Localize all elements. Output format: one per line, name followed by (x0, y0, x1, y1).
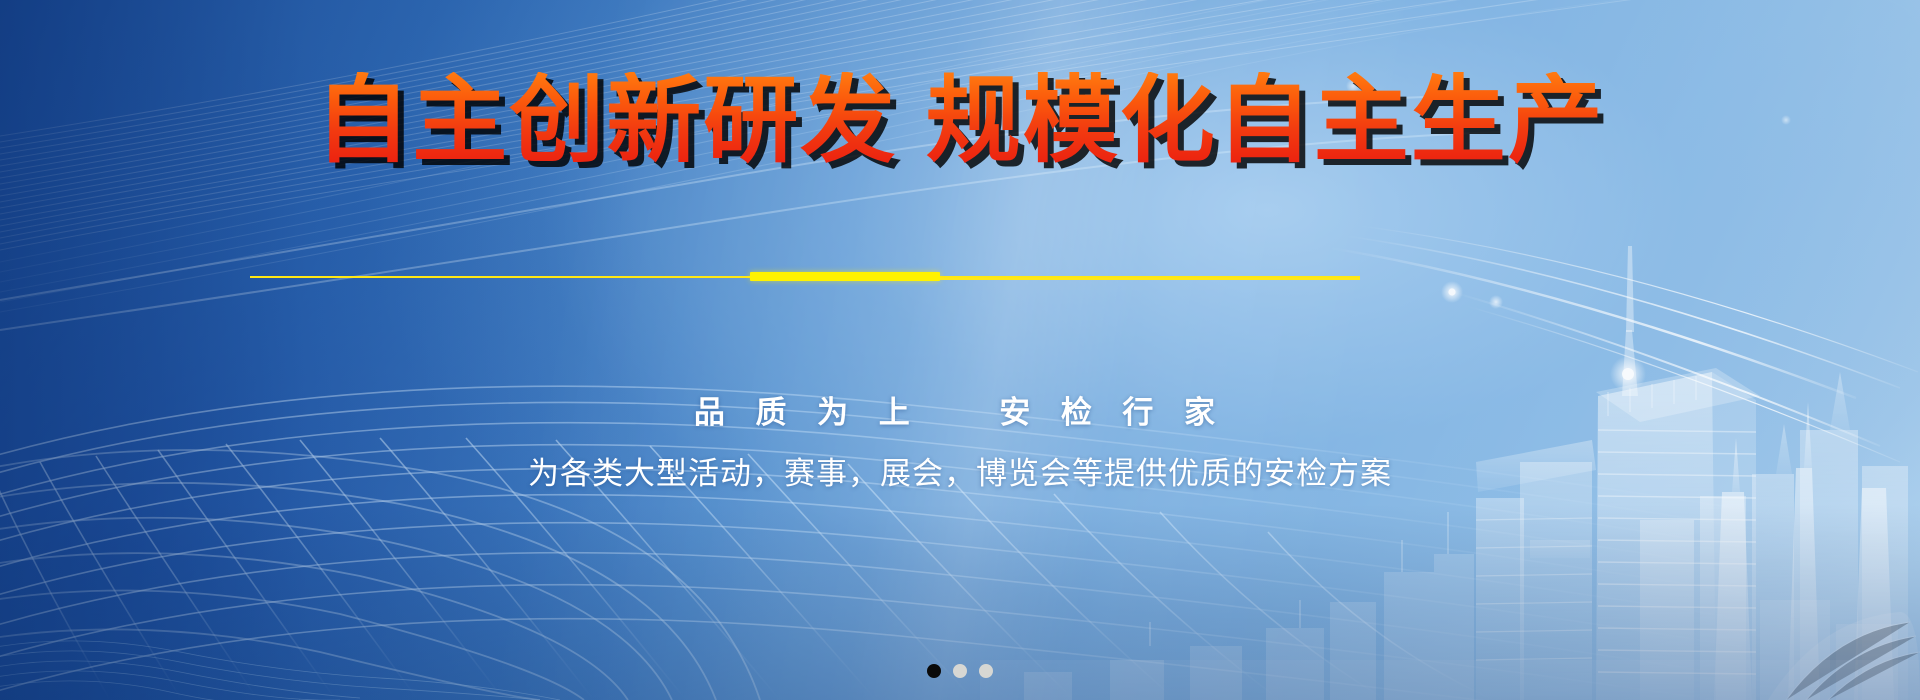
divider-accent (0, 268, 1920, 286)
banner-description: 为各类大型活动，赛事，展会，博览会等提供优质的安检方案 (0, 448, 1920, 493)
banner-content: 自主创新研发 规模化自主生产 品 质 为 上 安 检 行 家 为各类大型活动，赛… (0, 0, 1920, 700)
banner-headline: 自主创新研发 规模化自主生产 (0, 72, 1920, 172)
carousel-dot-1[interactable] (927, 664, 941, 678)
carousel-dot-2[interactable] (953, 664, 967, 678)
carousel-dots[interactable] (0, 664, 1920, 678)
divider-line-right (940, 278, 1360, 280)
divider-core-highlight (750, 272, 940, 281)
banner-tagline: 品 质 为 上 安 检 行 家 (0, 387, 1920, 432)
hero-banner: 自主创新研发 规模化自主生产 品 质 为 上 安 检 行 家 为各类大型活动，赛… (0, 0, 1920, 700)
carousel-dot-3[interactable] (979, 664, 993, 678)
